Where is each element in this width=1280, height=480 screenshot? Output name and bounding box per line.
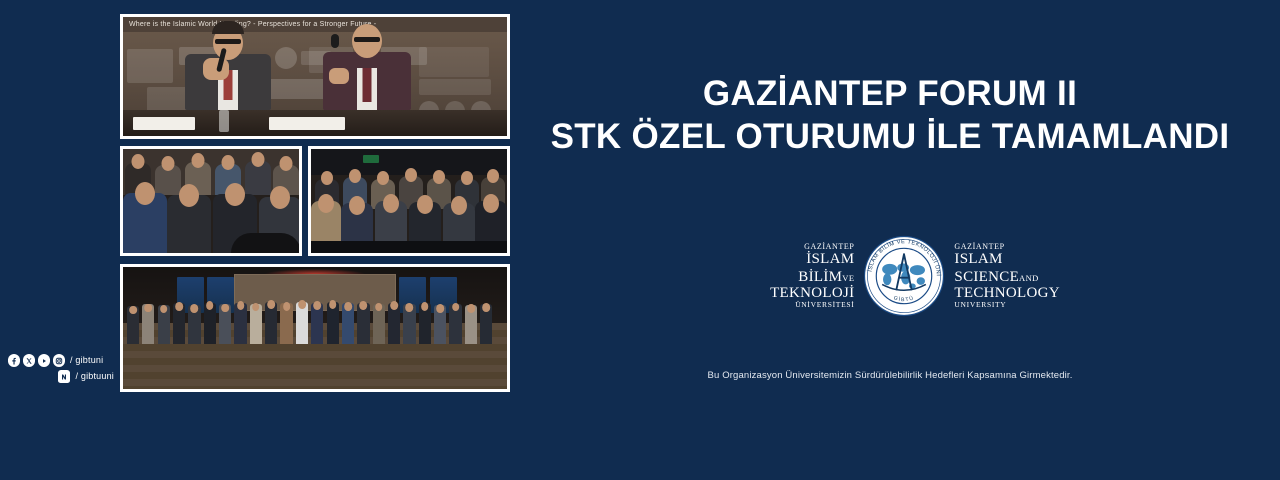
panel-banner-text: Where is the Islamic World Heading? - Pe…	[123, 17, 507, 32]
backdrop-english-text	[419, 79, 491, 95]
social-media-bar: / gibtuni / gibtuuni	[8, 352, 116, 384]
social-row-secondary: / gibtuuni	[8, 368, 116, 384]
group-member	[127, 306, 139, 344]
speaker-right-tie	[363, 68, 372, 102]
logo-en-line-3: SCIENCEAND	[954, 268, 1060, 285]
headline-line-1: GAZİANTEP FORUM II	[703, 74, 1077, 113]
logo-tr-line-2: İSLAM	[770, 251, 854, 267]
group-member	[419, 303, 431, 343]
group-member	[296, 302, 308, 344]
logo-en-line-5: UNIVERSITY	[954, 301, 1060, 309]
group-member	[234, 303, 246, 344]
group-member	[342, 303, 354, 343]
group-member	[265, 302, 277, 344]
group-member	[142, 304, 154, 344]
backdrop-arabic-text	[419, 47, 489, 77]
audience-right-image	[311, 149, 507, 253]
group-member	[449, 304, 461, 344]
audience-left-image	[123, 149, 299, 253]
side-table	[231, 233, 301, 253]
group-member	[480, 304, 492, 344]
logo-tr-line-1: GAZİANTEP	[770, 243, 854, 252]
group-member	[250, 304, 262, 344]
logo-tr-line-3: BİLİMVE	[770, 268, 854, 285]
group-member	[327, 302, 339, 344]
page-title: GAZİANTEP FORUM II STK ÖZEL OTURUMU İLE …	[520, 72, 1260, 158]
n-square-icon[interactable]	[58, 370, 70, 382]
group-member	[388, 303, 400, 344]
speaker-left	[185, 28, 271, 110]
group-member	[158, 305, 170, 344]
nameplate-left	[133, 117, 195, 130]
logo-en-line-3-main: SCIENCE	[954, 269, 1019, 285]
social-handle-primary[interactable]: / gibtuni	[70, 355, 103, 365]
world-map-emblem-icon: GAZİANTEP İSLAM BİLİM VE TEKNOLOJİ ÜNİVE…	[862, 234, 946, 318]
sustainability-note: Bu Organizasyon Üniversitemizin Sürdürül…	[520, 370, 1260, 381]
logo-tr-line-3-suffix: VE	[842, 273, 854, 283]
exit-sign	[363, 155, 379, 163]
headline-line-2: STK ÖZEL OTURUMU İLE TAMAMLANDI	[520, 115, 1260, 158]
group-row	[123, 300, 507, 344]
speaker-right-hand	[329, 68, 349, 84]
poster-canvas: Where is the Islamic World Heading? - Pe…	[0, 0, 1280, 480]
logo-tr-line-5: ÜNİVERSİTESİ	[770, 301, 854, 309]
group-photo	[120, 264, 510, 392]
university-name-english: GAZİANTEP ISLAM SCIENCEAND TECHNOLOGY UN…	[954, 243, 1060, 309]
speaker-right-glasses	[354, 37, 380, 42]
group-member	[465, 305, 477, 344]
audience-left-photo	[120, 146, 302, 256]
logo-tr-line-4: TEKNOLOJİ	[770, 285, 854, 301]
backdrop-logo-left	[127, 49, 173, 83]
panel-speakers-image: Where is the Islamic World Heading? - Pe…	[123, 17, 507, 136]
backdrop-turkish-title	[263, 79, 329, 99]
panel-speakers-photo: Where is the Islamic World Heading? - Pe…	[120, 14, 510, 139]
group-member	[280, 303, 292, 343]
group-member	[311, 303, 323, 344]
logo-en-line-2: ISLAM	[954, 251, 1060, 267]
group-member	[403, 304, 415, 344]
water-glass	[219, 110, 229, 132]
speaker-left-glasses	[215, 39, 241, 44]
university-logo: GAZİANTEP İSLAM BİLİMVE TEKNOLOJİ ÜNİVER…	[770, 230, 1060, 322]
audience-member	[167, 195, 211, 256]
group-photo-image	[123, 267, 507, 389]
group-member	[373, 304, 385, 344]
speaker-left-hair	[212, 21, 244, 34]
group-member	[357, 303, 369, 344]
group-member	[434, 305, 446, 344]
nameplate-right	[269, 117, 345, 130]
youtube-icon[interactable]	[38, 354, 50, 366]
group-member	[204, 303, 216, 344]
audience-right-photo	[308, 146, 510, 256]
speaker-right	[323, 26, 411, 110]
logo-en-line-3-suffix: AND	[1019, 273, 1039, 283]
speaker-right-headset	[331, 34, 339, 48]
group-member	[173, 303, 185, 343]
social-row-primary: / gibtuni	[8, 352, 116, 368]
social-handle-secondary[interactable]: / gibtuuni	[75, 371, 114, 381]
facebook-icon[interactable]	[8, 354, 20, 366]
backdrop-seal-1	[275, 47, 297, 69]
logo-en-line-4: TECHNOLOGY	[954, 285, 1060, 301]
auditorium-front-rail	[311, 241, 507, 253]
logo-tr-line-3-main: BİLİM	[798, 269, 842, 285]
group-member	[188, 305, 200, 344]
x-twitter-icon[interactable]	[23, 354, 35, 366]
logo-en-line-1: GAZİANTEP	[954, 243, 1060, 252]
group-member	[219, 304, 231, 344]
university-name-turkish: GAZİANTEP İSLAM BİLİMVE TEKNOLOJİ ÜNİVER…	[770, 243, 854, 309]
audience-member	[123, 193, 167, 256]
instagram-icon[interactable]	[53, 354, 65, 366]
